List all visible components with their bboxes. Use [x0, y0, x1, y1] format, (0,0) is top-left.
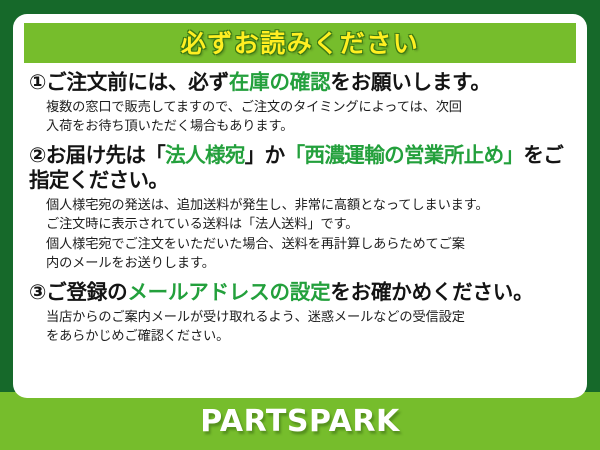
notice-item-3-heading-part-1: ご登録の: [46, 280, 127, 304]
notice-item-2-body-line-2: ご注文時に表示されている送料は「法人送料」です。: [46, 215, 571, 234]
notice-item-3-heading: ③ご登録のメールアドレスの設定をお確かめください。: [29, 280, 571, 305]
page-title: 必ずお読みください: [181, 31, 420, 56]
notice-item-1-body-line-1: 複数の窓口で販売してますので、ご注文のタイミングによっては、次回: [46, 98, 571, 117]
notice-item-list: ①ご注文前には、必ず在庫の確認をお願いします。 複数の窓口で販売してますので、ご…: [23, 70, 577, 346]
notice-item-2-body-line-1: 個人様宅宛の発送は、追加送料が発生し、非常に高額となってしまいます。: [46, 196, 571, 215]
notice-item-3-body: 当店からのご案内メールが受け取れるよう、迷惑メールなどの受信設定 をあらかじめご…: [29, 308, 571, 346]
notice-item-3-body-line-1: 当店からのご案内メールが受け取れるよう、迷惑メールなどの受信設定: [46, 308, 571, 327]
notice-item-1-body: 複数の窓口で販売してますので、ご注文のタイミングによっては、次回 入荷をお待ち頂…: [29, 98, 571, 136]
notice-item-2-heading-highlight-2: 「西濃運輸の営業所止め」: [285, 143, 524, 167]
notice-card: 必ずお読みください ①ご注文前には、必ず在庫の確認をお願いします。 複数の窓口で…: [13, 14, 587, 398]
notice-item-2-heading-part-1: お届け先は「: [46, 143, 165, 167]
footer-logo: PARTSPARK: [0, 392, 600, 450]
notice-item-1-heading: ①ご注文前には、必ず在庫の確認をお願いします。: [29, 70, 571, 95]
title-bar: 必ずお読みください: [24, 23, 576, 63]
notice-item-2-body: 個人様宅宛の発送は、追加送料が発生し、非常に高額となってしまいます。 ご注文時に…: [29, 196, 571, 273]
notice-item-1-heading-part-3: をお願いします。: [330, 70, 490, 94]
notice-item-3: ③ご登録のメールアドレスの設定をお確かめください。 当店からのご案内メールが受け…: [29, 280, 571, 346]
notice-item-1-heading-part-1: ご注文前には、必ず: [46, 70, 229, 94]
notice-item-2-body-line-3: 個人様宅宛でご注文をいただいた場合、送料を再計算しあらためてご案: [46, 235, 571, 254]
notice-item-3-marker: ③: [29, 280, 46, 304]
notice-item-2-heading: ②お届け先は「法人様宛」か「西濃運輸の営業所止め」をご指定ください。: [29, 143, 571, 193]
brand-logo-text: PARTSPARK: [200, 404, 400, 439]
notice-item-1-body-line-2: 入荷をお待ち頂いただく場合もあります。: [46, 117, 571, 136]
notice-item-1: ①ご注文前には、必ず在庫の確認をお願いします。 複数の窓口で販売してますので、ご…: [29, 70, 571, 136]
notice-item-1-heading-highlight: 在庫の確認: [229, 70, 331, 94]
notice-item-2: ②お届け先は「法人様宛」か「西濃運輸の営業所止め」をご指定ください。 個人様宅宛…: [29, 143, 571, 273]
notice-item-3-heading-highlight: メールアドレスの設定: [127, 280, 330, 304]
notice-item-2-marker: ②: [29, 143, 46, 167]
notice-item-2-body-line-4: 内のメールをお送りします。: [46, 254, 571, 273]
notice-item-3-heading-part-3: をお確かめください。: [330, 280, 533, 304]
notice-item-2-heading-highlight-1: 法人様宛: [165, 143, 245, 167]
notice-item-1-marker: ①: [29, 70, 46, 94]
notice-frame: 必ずお読みください ①ご注文前には、必ず在庫の確認をお願いします。 複数の窓口で…: [0, 0, 600, 450]
notice-item-3-body-line-2: をあらかじめご確認ください。: [46, 327, 571, 346]
notice-item-2-heading-part-3: 」か: [245, 143, 285, 167]
